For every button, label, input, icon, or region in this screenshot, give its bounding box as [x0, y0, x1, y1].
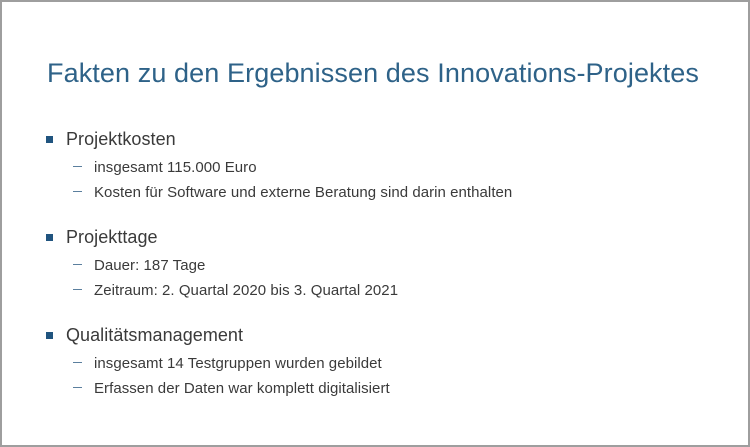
sub-bullet-item: insgesamt 14 Testgruppen wurden gebildet: [44, 351, 704, 376]
bullet-heading-label: Projekttage: [66, 227, 158, 247]
sub-bullet-label: Zeitraum: 2. Quartal 2020 bis 3. Quartal…: [94, 282, 398, 299]
dash-bullet-icon: [73, 362, 82, 363]
bullet-heading-label: Projektkosten: [66, 129, 176, 149]
sub-bullet-list: insgesamt 115.000 Euro Kosten für Softwa…: [44, 155, 704, 205]
bullet-heading-label: Qualitätsmanagement: [66, 325, 243, 345]
sub-bullet-label: insgesamt 115.000 Euro: [94, 159, 257, 176]
sub-bullet-item: Zeitraum: 2. Quartal 2020 bis 3. Quartal…: [44, 278, 704, 303]
sub-bullet-item: Erfassen der Daten war komplett digitali…: [44, 376, 704, 401]
sub-bullet-item: Dauer: 187 Tage: [44, 253, 704, 278]
bullet-group: Qualitätsmanagement insgesamt 14 Testgru…: [44, 322, 704, 401]
sub-bullet-list: Dauer: 187 Tage Zeitraum: 2. Quartal 202…: [44, 253, 704, 303]
sub-bullet-list: insgesamt 14 Testgruppen wurden gebildet…: [44, 351, 704, 401]
bullet-heading: Projektkosten: [44, 126, 704, 152]
square-bullet-icon: [46, 332, 53, 339]
sub-bullet-label: insgesamt 14 Testgruppen wurden gebildet: [94, 355, 382, 372]
dash-bullet-icon: [73, 264, 82, 265]
sub-bullet-label: Kosten für Software und externe Beratung…: [94, 184, 512, 201]
dash-bullet-icon: [73, 166, 82, 167]
slide-body: Projektkosten insgesamt 115.000 Euro Kos…: [44, 126, 704, 401]
sub-bullet-item: Kosten für Software und externe Beratung…: [44, 180, 704, 205]
bullet-heading: Projekttage: [44, 224, 704, 250]
sub-bullet-label: Erfassen der Daten war komplett digitali…: [94, 380, 390, 397]
bullet-heading: Qualitätsmanagement: [44, 322, 704, 348]
sub-bullet-label: Dauer: 187 Tage: [94, 257, 205, 274]
bullet-group: Projektkosten insgesamt 115.000 Euro Kos…: [44, 126, 704, 205]
slide-title: Fakten zu den Ergebnissen des Innovation…: [47, 56, 707, 90]
square-bullet-icon: [46, 234, 53, 241]
dash-bullet-icon: [73, 191, 82, 192]
bullet-group: Projekttage Dauer: 187 Tage Zeitraum: 2.…: [44, 224, 704, 303]
sub-bullet-item: insgesamt 115.000 Euro: [44, 155, 704, 180]
dash-bullet-icon: [73, 387, 82, 388]
presentation-slide: Fakten zu den Ergebnissen des Innovation…: [0, 0, 750, 447]
dash-bullet-icon: [73, 289, 82, 290]
square-bullet-icon: [46, 136, 53, 143]
